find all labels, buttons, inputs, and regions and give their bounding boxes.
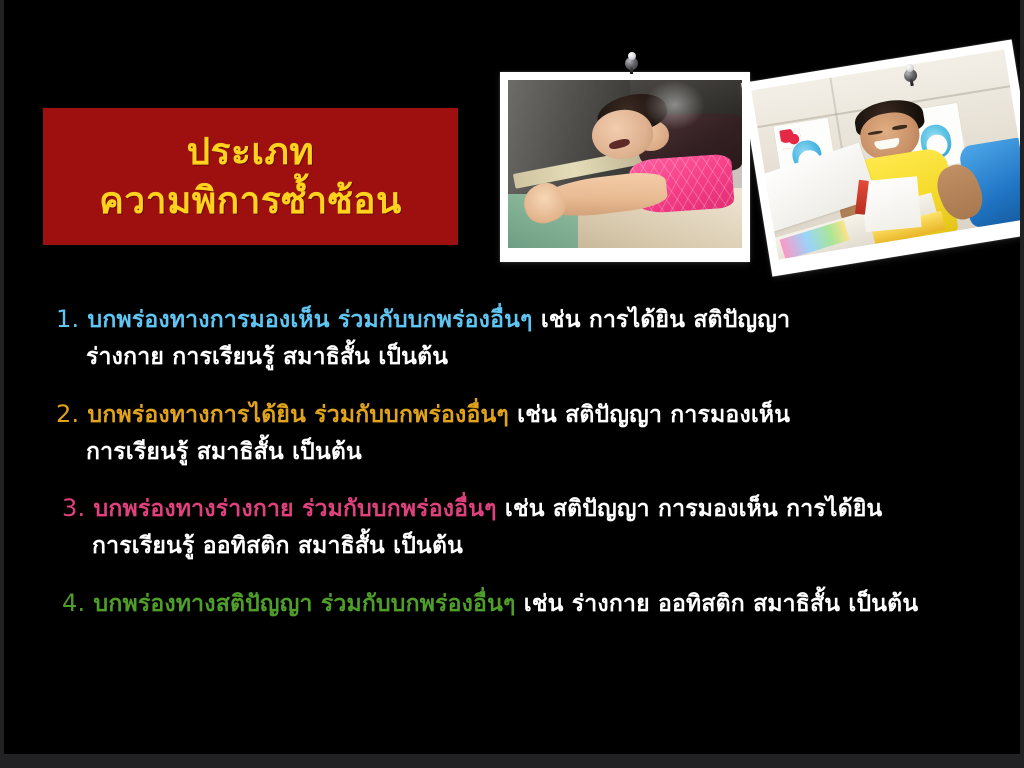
pushpin-needle-1 — [630, 67, 633, 74]
photo-child-lying — [500, 72, 750, 262]
list-item-number: 3. — [62, 494, 85, 522]
title-box: ประเภท ความพิการซ้ำซ้อน — [43, 108, 458, 245]
list-item-line2: การเรียนรู้ ออทิสติก สมาธิสั้น เป็นต้น — [62, 528, 1020, 565]
list-item-rest: เช่น สติปัญญา การมองเห็น — [509, 402, 790, 428]
photo-boy-smiling-desk — [741, 39, 1020, 276]
p2-paper-small — [861, 177, 922, 233]
list-item-line2: การเรียนรู้ สมาธิสั้น เป็นต้น — [56, 434, 1020, 471]
list-item-number: 1. — [56, 305, 79, 333]
list-item-lead: บกพร่องทางสติปัญญา ร่วมกับบกพร่องอื่นๆ — [94, 591, 516, 617]
list-item: 1. บกพร่องทางการมองเห็น ร่วมกับบกพร่องอื… — [4, 300, 1020, 377]
list-item-rest: เช่น สติปัญญา การมองเห็น การได้ยิน — [497, 496, 883, 522]
p1-glare — [644, 80, 705, 130]
list-item-lead: บกพร่องทางร่างกาย ร่วมกับบกพร่องอื่นๆ — [94, 496, 497, 522]
list-item: 4. บกพร่องทางสติปัญญา ร่วมกับบกพร่องอื่น… — [4, 584, 1020, 623]
page-title: ประเภท ความพิการซ้ำซ้อน — [99, 128, 402, 224]
slide-canvas: ประเภท ความพิการซ้ำซ้อน — [4, 0, 1020, 754]
list-item-rest: เช่น ร่างกาย ออทิสติก สมาธิสั้น เป็นต้น — [516, 591, 919, 617]
list-item-number: 4. — [62, 589, 85, 617]
list-item-rest: เช่น การได้ยิน สติปัญญา — [533, 307, 791, 333]
p2-hearts — [779, 128, 802, 150]
pushpin-highlight-1 — [628, 52, 636, 60]
list-item-number: 2. — [56, 400, 79, 428]
list-item-lead: บกพร่องทางการมองเห็น ร่วมกับบกพร่องอื่นๆ — [88, 307, 533, 333]
list-item-line2: ร่างกาย การเรียนรู้ สมาธิสั้น เป็นต้น — [56, 339, 1020, 376]
bullet-list: 1. บกพร่องทางการมองเห็น ร่วมกับบกพร่องอื… — [4, 300, 1020, 641]
list-item: 2. บกพร่องทางการได้ยิน ร่วมกับบกพร่องอื่… — [4, 395, 1020, 472]
list-item-lead: บกพร่องทางการได้ยิน ร่วมกับบกพร่องอื่นๆ — [88, 402, 509, 428]
pushpin-icon-1 — [624, 52, 639, 74]
photo-boy-smiling-desk-image — [751, 50, 1020, 260]
list-item: 3. บกพร่องทางร่างกาย ร่วมกับบกพร่องอื่นๆ… — [4, 489, 1020, 566]
photo-child-lying-image — [508, 80, 742, 248]
